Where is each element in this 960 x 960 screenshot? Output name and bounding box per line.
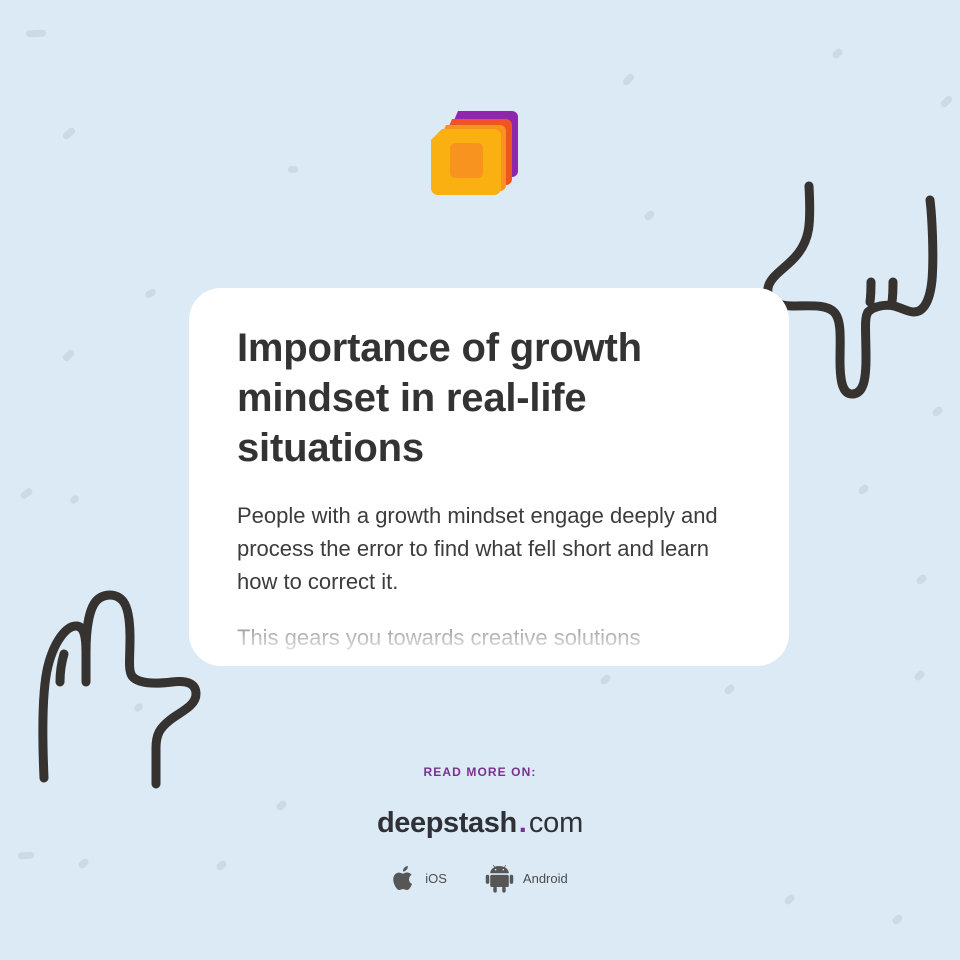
ios-store-label: iOS (425, 871, 447, 886)
footer: READ MORE ON: deepstash.com iOS (0, 765, 960, 893)
deepstash-wordmark[interactable]: deepstash.com (0, 807, 960, 840)
android-store-label: Android (523, 871, 568, 886)
android-icon (485, 864, 514, 893)
app-store-badges: iOS Android (0, 864, 960, 893)
ios-store-badge[interactable]: iOS (392, 864, 447, 893)
read-more-label: READ MORE ON: (0, 765, 960, 779)
wordmark-tld: com (529, 807, 583, 839)
apple-icon (392, 864, 416, 893)
card-paragraph-1: People with a growth mindset engage deep… (237, 499, 741, 598)
idea-card-content: Importance of growth mindset in real-lif… (189, 288, 789, 654)
wordmark-dot: . (517, 807, 529, 839)
poster-canvas: Importance of growth mindset in real-lif… (0, 0, 960, 960)
idea-card[interactable]: Importance of growth mindset in real-lif… (189, 288, 789, 666)
deepstash-logo (428, 103, 520, 197)
wordmark-name: deepstash (377, 807, 517, 839)
pointing-hand-outline-left-icon (24, 562, 214, 790)
android-store-badge[interactable]: Android (485, 864, 568, 893)
card-paragraph-2: This gears you towards creative solution… (237, 621, 741, 654)
page-title: Importance of growth mindset in real-lif… (237, 323, 741, 473)
